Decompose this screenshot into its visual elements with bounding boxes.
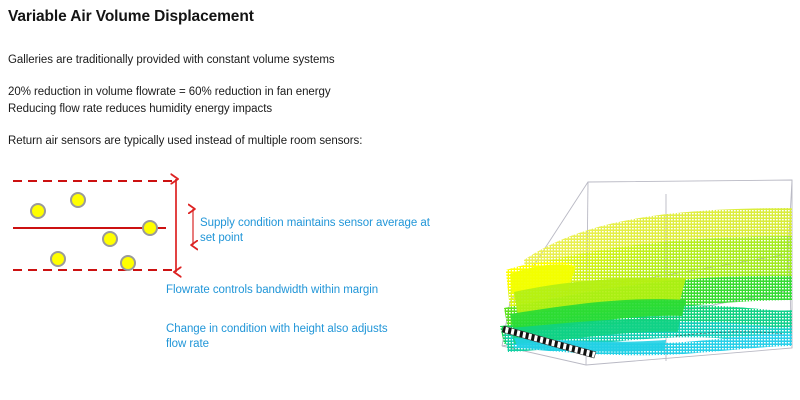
body-line-reduction: 20% reduction in volume flowrate = 60% r…: [8, 86, 331, 98]
annotation-change-line1: Change in condition with height also adj…: [166, 322, 388, 337]
annotation-flowrate-bandwidth: Flowrate controls bandwidth within margi…: [166, 283, 378, 298]
sensor-dot: [143, 221, 157, 235]
annotation-supply-line1: Supply condition maintains sensor averag…: [200, 216, 430, 231]
annotation-change-line2: flow rate: [166, 337, 388, 352]
sensor-dot: [31, 204, 45, 218]
body-line-galleries: Galleries are traditionally provided wit…: [8, 54, 335, 66]
sensor-dot: [51, 252, 65, 266]
sensor-dot: [71, 193, 85, 207]
sensor-dot-group: [31, 193, 157, 270]
annotation-supply-line2: set point: [200, 231, 430, 246]
cfd-stratification-plot: [470, 150, 800, 400]
annotation-change-condition: Change in condition with height also adj…: [166, 322, 388, 352]
sensor-band-diagram: [0, 160, 230, 290]
body-line-return-air-sensors: Return air sensors are typically used in…: [8, 135, 362, 147]
body-line-humidity: Reducing flow rate reduces humidity ener…: [8, 103, 272, 115]
annotation-supply-condition: Supply condition maintains sensor averag…: [200, 216, 430, 246]
sensor-dot: [103, 232, 117, 246]
sensor-dot: [121, 256, 135, 270]
slide-canvas: Variable Air Volume Displacement Galleri…: [0, 0, 800, 400]
page-title: Variable Air Volume Displacement: [8, 8, 254, 26]
